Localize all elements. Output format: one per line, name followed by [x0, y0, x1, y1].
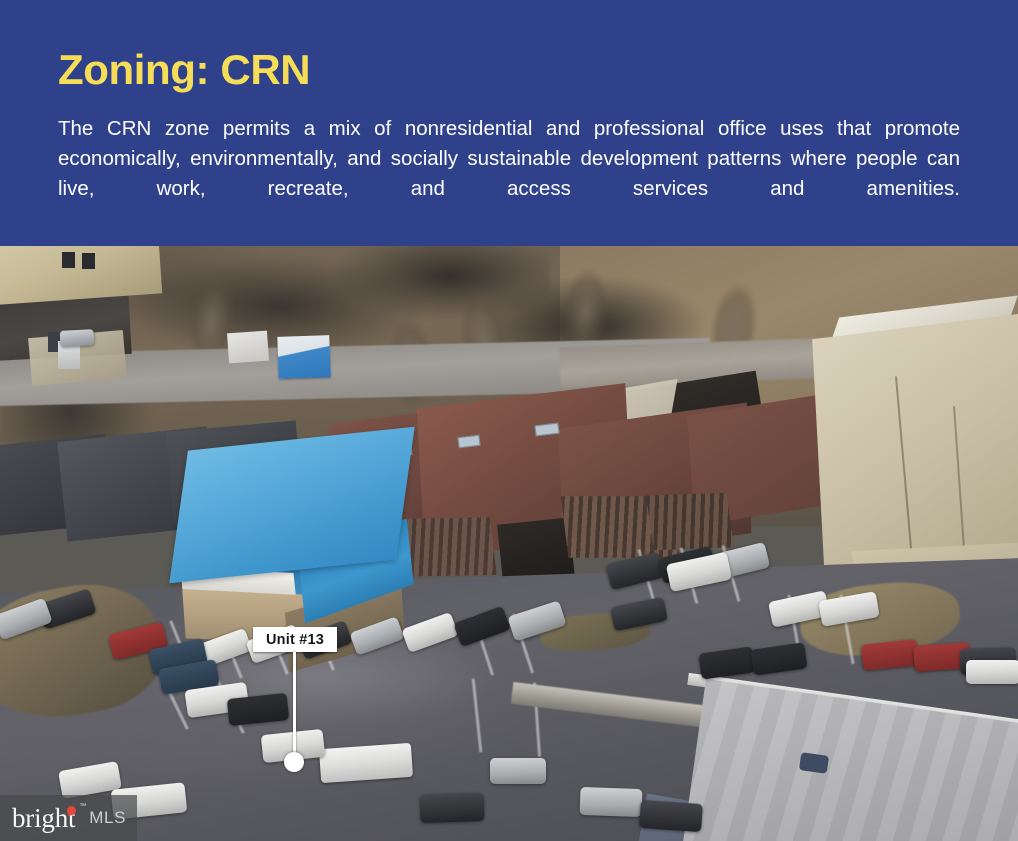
zoning-description: The CRN zone permits a mix of nonresiden… [58, 114, 960, 234]
aerial-photo: Unit #13 bright ™ MLS [0, 246, 1018, 841]
unit-marker: Unit #13 [0, 246, 1018, 841]
bright-mls-watermark: bright ™ MLS [0, 795, 137, 841]
page-title: Zoning: CRN [58, 48, 960, 92]
listing-slide: Zoning: CRN The CRN zone permits a mix o… [0, 0, 1018, 841]
marker-leader-line [293, 652, 296, 760]
watermark-suffix: MLS [89, 808, 126, 828]
watermark-brand: bright [12, 805, 75, 832]
unit-label[interactable]: Unit #13 [253, 627, 337, 652]
watermark-accent-dot-icon [66, 804, 77, 815]
watermark-brand-text: bright [12, 803, 75, 833]
marker-dot-icon[interactable] [284, 752, 304, 772]
watermark-trademark: ™ [79, 795, 86, 810]
header-panel: Zoning: CRN The CRN zone permits a mix o… [0, 0, 1018, 246]
